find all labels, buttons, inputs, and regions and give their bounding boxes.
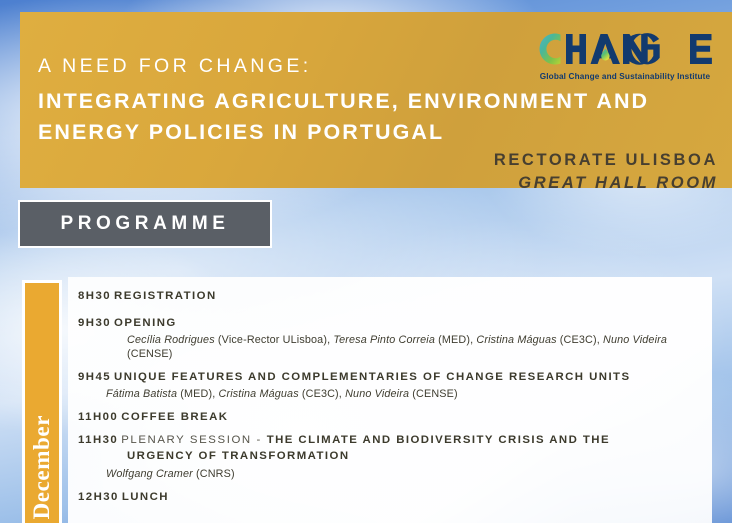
schedule-item-title: OPENING	[114, 317, 177, 329]
month-sidebar: December	[22, 280, 62, 523]
change-logo: Global Change and Sustainability Institu…	[530, 28, 720, 81]
schedule-item-title-continued: URGENCY OF TRANSFORMATION	[127, 449, 702, 465]
schedule-item-title: THE CLIMATE AND BIODIVERSITY CRISIS AND …	[267, 434, 610, 446]
schedule-item: 11H00COFFEE BREAK	[78, 410, 702, 426]
schedule-item-title: COFFEE BREAK	[121, 411, 228, 423]
programme-banner: PROGRAMME	[18, 200, 272, 248]
change-wordmark-icon	[530, 28, 720, 70]
event-subtitle-line: A NEED FOR CHANGE:	[38, 56, 508, 77]
schedule-item-heading: 11H30PLENARY SESSION - THE CLIMATE AND B…	[78, 433, 702, 449]
schedule-item-heading: 8H30REGISTRATION	[78, 289, 702, 305]
schedule-item: 9H45UNIQUE FEATURES AND COMPLEMENTARIES …	[78, 370, 702, 402]
venue-room: GREAT HALL ROOM	[494, 173, 718, 194]
schedule-item: 12H30LUNCH	[78, 490, 702, 506]
schedule-item-title: REGISTRATION	[114, 290, 217, 302]
change-logo-subtitle: Global Change and Sustainability Institu…	[530, 73, 720, 81]
header-gold-band: A NEED FOR CHANGE: INTEGRATING AGRICULTU…	[20, 12, 732, 188]
poster-root: A NEED FOR CHANGE: INTEGRATING AGRICULTU…	[0, 0, 732, 523]
schedule-item-title: LUNCH	[122, 491, 169, 503]
schedule-item-heading: 11H00COFFEE BREAK	[78, 410, 702, 426]
schedule-panel: 8H30REGISTRATION 9H30OPENING Cecília Rod…	[68, 277, 712, 523]
schedule-item-speakers: Cecília Rodrigues (Vice-Rector ULisboa),…	[127, 333, 702, 362]
venue-block: RECTORATE ULISBOA GREAT HALL ROOM	[494, 150, 718, 194]
schedule-item-time: 11H00	[78, 411, 118, 423]
event-title-block: A NEED FOR CHANGE: INTEGRATING AGRICULTU…	[38, 56, 508, 147]
schedule-item-time: 9H45	[78, 371, 111, 383]
event-title-line-1: INTEGRATING AGRICULTURE, ENVIRONMENT AND	[38, 86, 508, 117]
schedule-item-speakers: Wolfgang Cramer (CNRS)	[106, 467, 702, 481]
schedule-item: 11H30PLENARY SESSION - THE CLIMATE AND B…	[78, 433, 702, 481]
schedule-item-time: 9H30	[78, 317, 111, 329]
month-label: December	[29, 415, 55, 519]
schedule-item-speakers: Fátima Batista (MED), Cristina Máguas (C…	[106, 387, 702, 401]
schedule-item-prefix: PLENARY SESSION -	[121, 434, 267, 446]
schedule-item: 8H30REGISTRATION	[78, 289, 702, 305]
schedule-item-time: 11H30	[78, 434, 118, 446]
event-title-line-2: ENERGY POLICIES IN PORTUGAL	[38, 117, 508, 148]
schedule-item-heading: 9H30OPENING	[78, 316, 702, 332]
schedule-item-heading: 9H45UNIQUE FEATURES AND COMPLEMENTARIES …	[78, 370, 702, 386]
venue-name: RECTORATE ULISBOA	[494, 150, 718, 171]
schedule-item: 9H30OPENING Cecília Rodrigues (Vice-Rect…	[78, 316, 702, 362]
programme-banner-label: PROGRAMME	[60, 213, 229, 235]
schedule-item-time: 8H30	[78, 290, 111, 302]
schedule-item-title: UNIQUE FEATURES AND COMPLEMENTARIES OF C…	[114, 371, 630, 383]
schedule-item-time: 12H30	[78, 491, 119, 503]
schedule-item-heading: 12H30LUNCH	[78, 490, 702, 506]
